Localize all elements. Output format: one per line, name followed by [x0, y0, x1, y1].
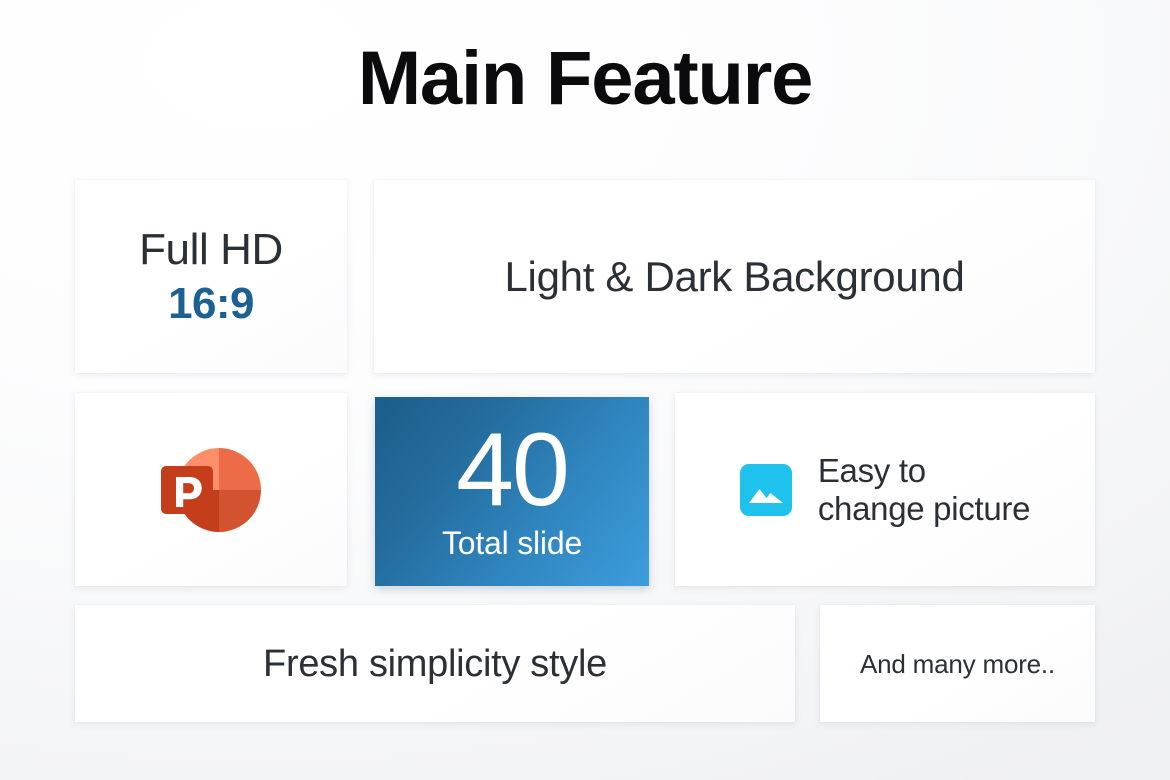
aspect-ratio-label: 16:9 [168, 279, 254, 329]
easy-change-picture-line1: Easy to [818, 452, 1030, 490]
page-title: Main Feature [0, 36, 1170, 122]
easy-change-picture-content: Easy to change picture [740, 452, 1030, 528]
image-icon [740, 464, 792, 516]
total-slide-label: Total slide [442, 525, 582, 561]
easy-change-picture-line2: change picture [818, 490, 1030, 528]
total-slide-card[interactable]: 40 Total slide [375, 397, 649, 586]
total-slide-count: 40 [456, 419, 568, 521]
slide-canvas: Main Feature Full HD 16:9 Light & Dark B… [0, 0, 1170, 780]
powerpoint-icon [159, 444, 263, 536]
and-many-more-label: And many more.. [860, 648, 1055, 680]
fresh-simplicity-style-card[interactable]: Fresh simplicity style [75, 605, 795, 722]
easy-change-picture-label: Easy to change picture [818, 452, 1030, 528]
full-hd-card[interactable]: Full HD 16:9 [75, 180, 347, 373]
light-dark-background-card[interactable]: Light & Dark Background [374, 180, 1095, 373]
light-dark-background-label: Light & Dark Background [504, 252, 964, 302]
and-many-more-card[interactable]: And many more.. [820, 605, 1095, 722]
powerpoint-card[interactable] [75, 393, 347, 586]
easy-change-picture-card[interactable]: Easy to change picture [675, 393, 1095, 586]
fresh-simplicity-style-label: Fresh simplicity style [263, 642, 607, 686]
full-hd-label: Full HD [139, 225, 283, 275]
